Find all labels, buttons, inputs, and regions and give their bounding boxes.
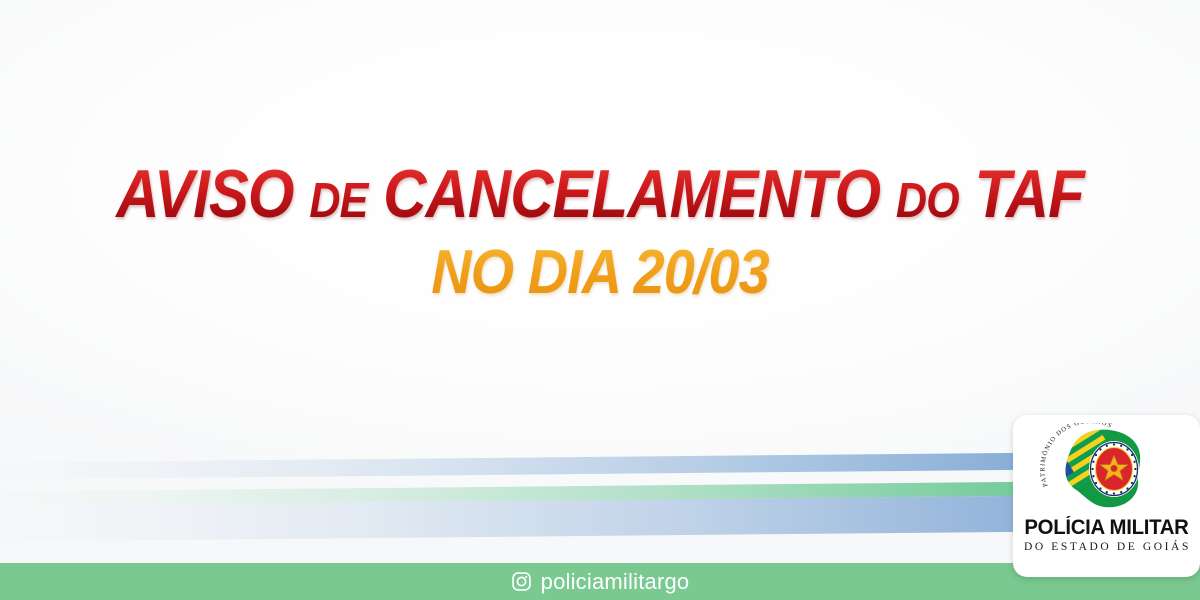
- headline-word-aviso: AVISO: [116, 156, 293, 232]
- logo-title: POLÍCIA MILITAR: [1016, 517, 1197, 539]
- headline-line-1: AVISO DE CANCELAMENTO DO TAF: [72, 160, 1128, 228]
- headline-line-2: NO DIA 20/03: [60, 242, 1140, 304]
- headline-word-do: DO: [896, 174, 959, 228]
- logo-text-block: POLÍCIA MILITAR DO ESTADO DE GOIÁS: [1013, 517, 1200, 554]
- instagram-handle[interactable]: policiamilitargo: [511, 571, 690, 593]
- instagram-icon: [511, 571, 532, 592]
- headline-word-cancelamento: CANCELAMENTO: [383, 156, 880, 232]
- poster-canvas: AVISO DE CANCELAMENTO DO TAF NO DIA 20/0…: [0, 0, 1200, 600]
- logo-subtitle: DO ESTADO DE GOIÁS: [1013, 542, 1200, 554]
- police-logo-card: PATRIMÔNIO DOS GOIANOS: [1013, 415, 1200, 577]
- goias-military-police-emblem-icon: PATRIMÔNIO DOS GOIANOS: [1039, 423, 1157, 519]
- headline-word-de: DE: [309, 174, 367, 228]
- headline-block: AVISO DE CANCELAMENTO DO TAF NO DIA 20/0…: [0, 160, 1200, 304]
- instagram-handle-text: policiamilitargo: [541, 571, 690, 593]
- headline-word-taf: TAF: [975, 156, 1084, 232]
